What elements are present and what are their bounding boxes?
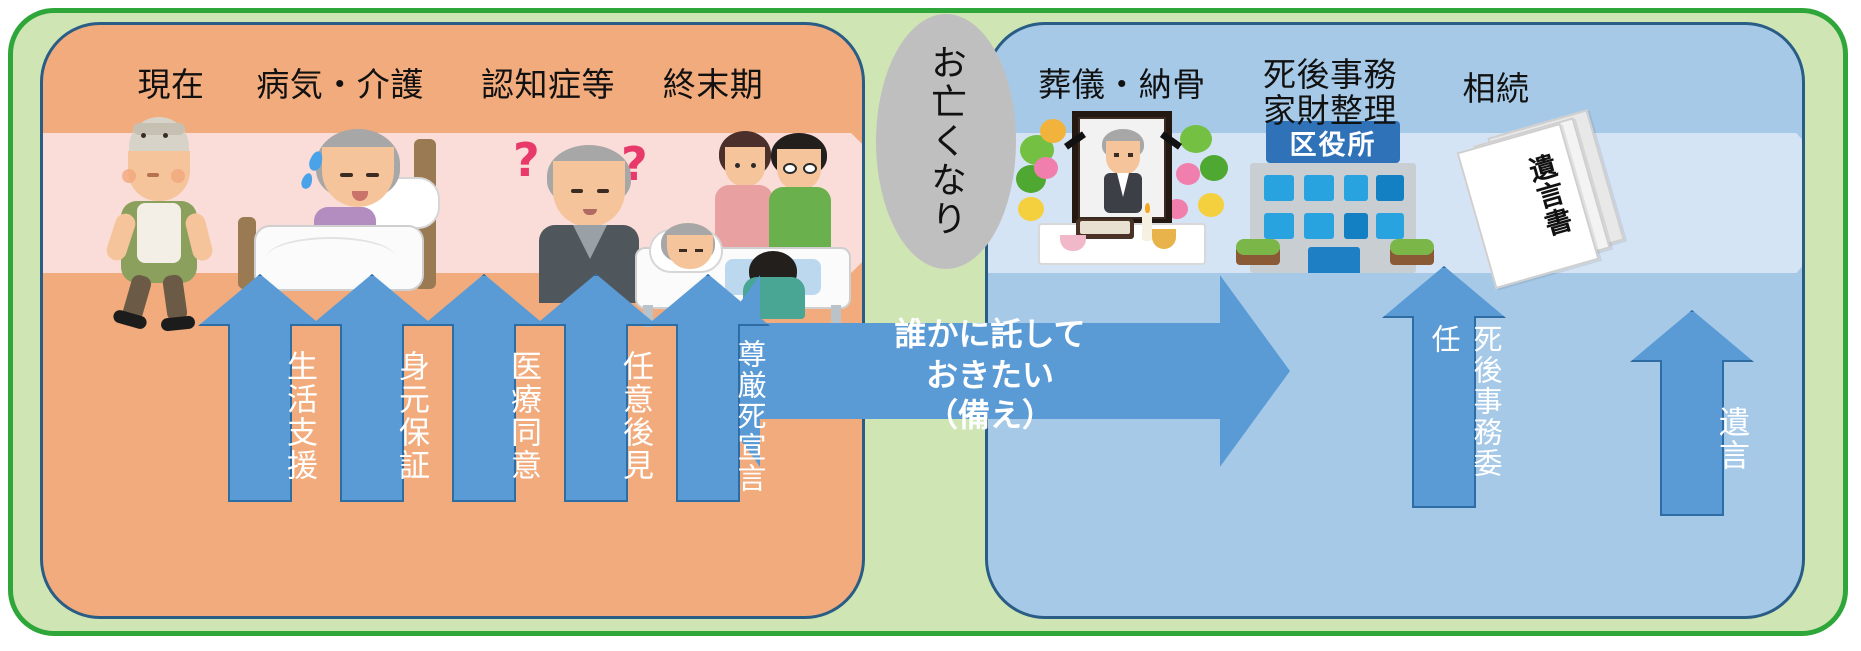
arrow-medical-consent[interactable]: 医療同意	[422, 274, 546, 502]
arrow-dignified-death-declaration[interactable]: 尊厳死宣言	[646, 274, 770, 502]
arrow-label-post-death-mandate: 死後事務委任	[1382, 320, 1506, 506]
arrow-head-icon	[310, 274, 434, 326]
arrow-label-will: 遺言	[1630, 364, 1754, 514]
stage-label-illness: 病気・介護	[225, 67, 455, 103]
arrow-head-icon	[534, 274, 658, 326]
arrow-label-identity-guarantee: 身元保証	[310, 328, 434, 500]
arrow-head-icon	[198, 274, 322, 326]
arrow-label-voluntary-guardianship: 任意後見	[534, 328, 658, 500]
arrow-head-icon	[1630, 310, 1754, 362]
walking-elderly-man-illustration	[111, 117, 211, 302]
stage-label-funeral: 葬儀・納骨	[1002, 67, 1242, 103]
arrow-label-living-support: 生活支援	[198, 328, 322, 500]
arrow-post-death-mandate[interactable]: 死後事務委任	[1382, 266, 1506, 508]
stage-label-dementia: 認知症等	[453, 67, 643, 103]
arrow-head-icon	[646, 274, 770, 326]
stage-label-post-affairs: 死後事務 家財整理	[1230, 57, 1430, 128]
arrow-will[interactable]: 遺言	[1630, 310, 1754, 516]
funeral-altar-portrait-illustration	[1016, 101, 1231, 271]
arrow-head-icon	[422, 274, 546, 326]
ward-office-building-illustration: 区役所	[1250, 121, 1432, 281]
arrow-living-support[interactable]: 生活支援	[198, 274, 322, 502]
arrow-label-dignified-death-declaration: 尊厳死宣言	[646, 328, 770, 500]
arrow-head-icon	[1382, 266, 1506, 318]
arrow-voluntary-guardianship[interactable]: 任意後見	[534, 274, 658, 502]
arrow-identity-guarantee[interactable]: 身元保証	[310, 274, 434, 502]
will-document-papers-illustration: 遺言書	[1458, 111, 1648, 291]
stage-label-inheritance: 相続	[1426, 71, 1566, 107]
death-marker-label: お亡くなり	[876, 14, 1016, 269]
stage-label-terminal: 終末期	[633, 67, 793, 103]
stage-label-present: 現在	[101, 67, 241, 103]
arrow-label-medical-consent: 医療同意	[422, 328, 546, 500]
entrust-arrow-label: 誰かに託して おきたい （備え）	[780, 300, 1200, 450]
diagram-canvas: ? ?	[0, 0, 1861, 651]
